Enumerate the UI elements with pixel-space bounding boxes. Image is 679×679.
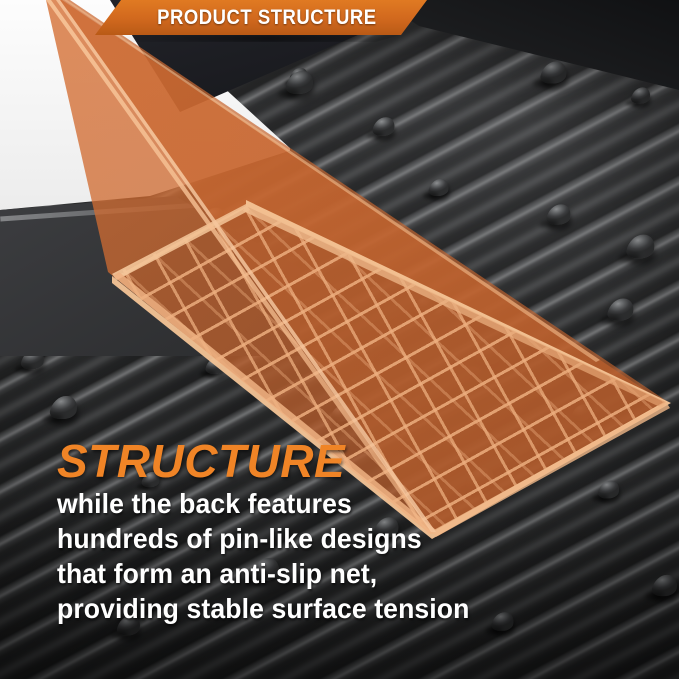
body-line-2: hundreds of pin-like designs xyxy=(57,521,466,556)
header-banner: PRODUCT STRUCTURE xyxy=(95,0,427,35)
banner-drop-shadow xyxy=(118,35,418,42)
product-structure-infographic: PRODUCT STRUCTURE STRUCTURE while the ba… xyxy=(0,0,679,679)
body-line-3: that form an anti-slip net, xyxy=(57,556,466,591)
copy-block: STRUCTURE while the back features hundre… xyxy=(57,436,487,626)
headline: STRUCTURE xyxy=(57,436,487,486)
banner-title: PRODUCT STRUCTURE xyxy=(145,6,377,30)
body-line-4: providing stable surface tension xyxy=(57,591,466,626)
body-line-1: while the back features xyxy=(57,486,466,521)
